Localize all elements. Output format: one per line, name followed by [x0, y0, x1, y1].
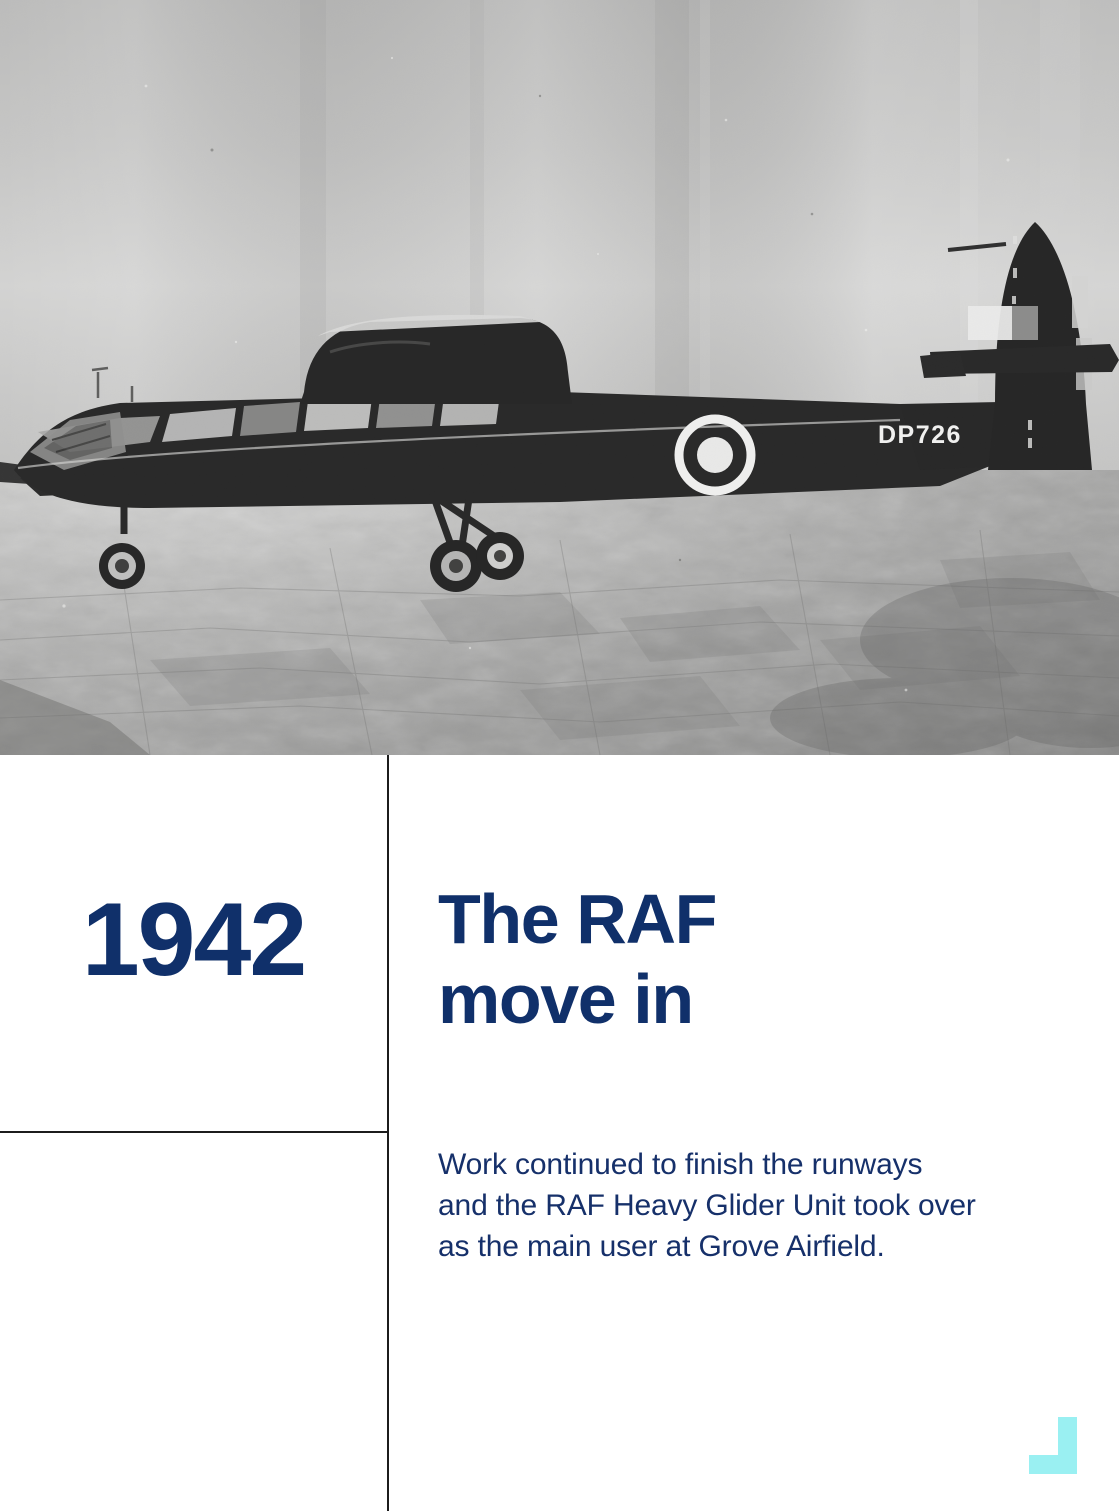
corner-bracket-accent-icon — [1029, 1417, 1077, 1474]
corner-bracket-horizontal-bar — [1029, 1455, 1077, 1474]
horizontal-divider-rule — [0, 1131, 389, 1133]
photo-artwork: DP726 — [0, 0, 1119, 755]
content-column: The RAF move in Work continued to finish… — [438, 880, 1058, 1268]
year-label: 1942 — [82, 888, 305, 998]
glider-photograph: DP726 — [0, 0, 1119, 755]
vertical-divider-rule — [387, 755, 389, 1511]
body-paragraph: Work continued to finish the runways and… — [438, 1144, 1058, 1268]
headline: The RAF move in — [438, 880, 1058, 1040]
timeline-card: DP726 — [0, 0, 1119, 1511]
year-cell: 1942 — [0, 755, 387, 1131]
